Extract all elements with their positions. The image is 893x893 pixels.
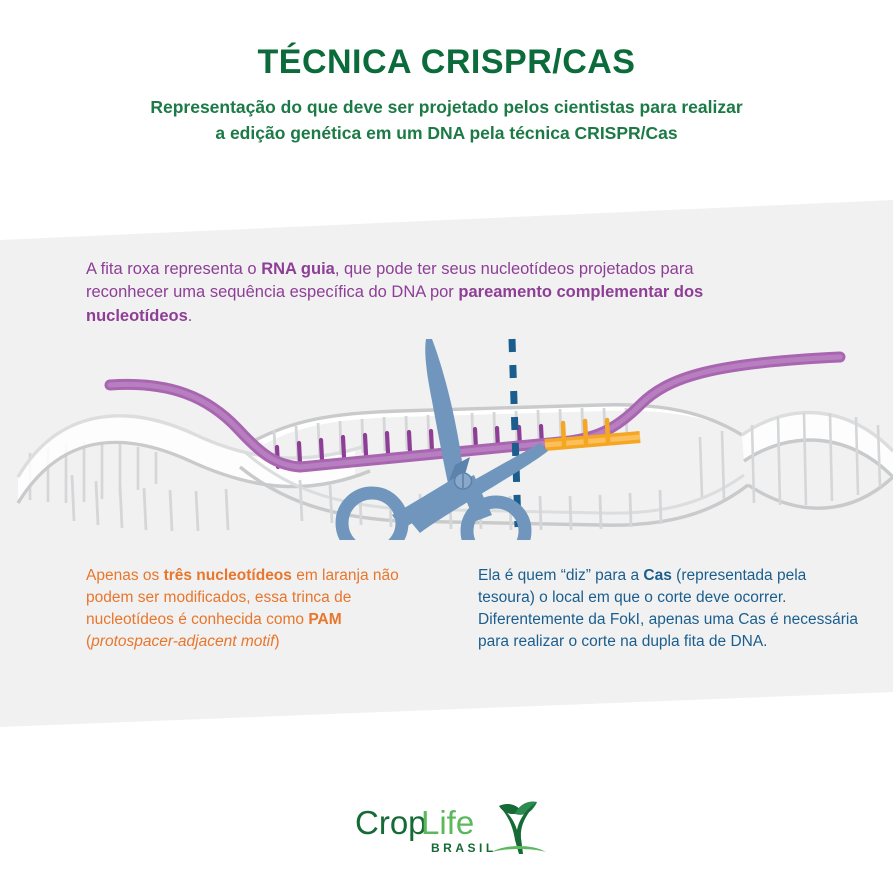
page-subtitle: Representação do que deve ser projetado …: [0, 81, 893, 146]
paragraph-cas: Ela é quem “diz” para a Cas (representad…: [478, 565, 858, 653]
logo-word-brasil: BRASIL: [431, 841, 497, 855]
sprout-icon: [492, 802, 546, 855]
croplife-brasil-logo: Crop Life BRASIL: [0, 788, 893, 873]
crispr-illustration: [0, 325, 893, 540]
logo-graphic: Crop Life BRASIL: [347, 788, 547, 868]
page-title: TÉCNICA CRISPR/CAS: [0, 0, 893, 81]
text-bold-pam: PAM: [308, 611, 341, 628]
text-bold-rna-guia: RNA guia: [261, 260, 335, 278]
text-italic-protospacer: protospacer-adjacent motif: [91, 633, 274, 650]
text-bold-tres-nucleotideos: três nucleotídeos: [164, 567, 292, 584]
paragraph-pam: Apenas os três nucleotídeos em laranja n…: [86, 565, 416, 653]
text-segment: Apenas os: [86, 567, 164, 584]
header: TÉCNICA CRISPR/CAS Representação do que …: [0, 0, 893, 146]
subtitle-line-1: Representação do que deve ser projetado …: [150, 97, 742, 117]
text-segment: ): [274, 633, 279, 650]
logo-word-crop: Crop: [355, 804, 427, 841]
text-segment: .: [188, 307, 193, 325]
text-bold-cas: Cas: [643, 567, 671, 584]
text-segment: Ela é quem “diz” para a: [478, 567, 643, 584]
subtitle-line-2: a edição genética em um DNA pela técnica…: [215, 123, 677, 143]
logo-word-life: Life: [421, 804, 474, 841]
text-segment: A fita roxa representa o: [86, 260, 261, 278]
paragraph-rna-guide: A fita roxa representa o RNA guia, que p…: [86, 258, 726, 328]
infographic-page: TÉCNICA CRISPR/CAS Representação do que …: [0, 0, 893, 893]
